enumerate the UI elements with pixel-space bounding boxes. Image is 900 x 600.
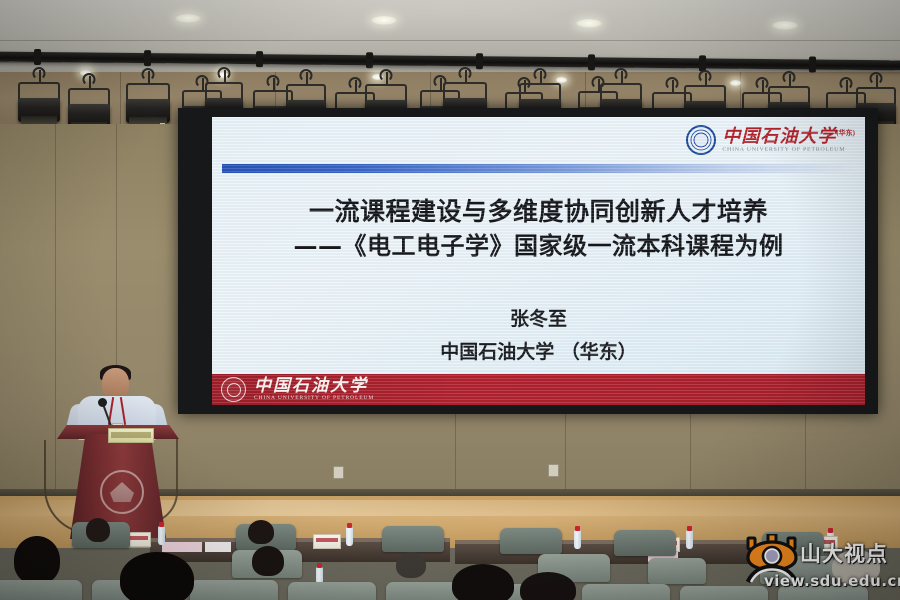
- presenter-affiliation: 中国石油大学 （华东）: [212, 336, 865, 369]
- slide-accent-bar: [222, 164, 854, 173]
- truss-lamp: [730, 80, 741, 86]
- microphone-icon: [98, 398, 107, 407]
- audience-placard: [313, 534, 341, 549]
- audience-head: [120, 552, 194, 600]
- water-bottle: [346, 527, 353, 546]
- slide-header-logo: 中国石油大学(华东) CHINA UNIVERSITY OF PETROLEUM: [686, 125, 855, 155]
- audience-chair: [614, 530, 676, 556]
- lecture-hall-photo: 中国石油大学(华东) CHINA UNIVERSITY OF PETROLEUM…: [0, 0, 900, 600]
- presenter-head: [102, 368, 129, 399]
- slide-logo-name-cn: 中国石油大学(华东): [722, 127, 855, 145]
- audience-head: [248, 520, 274, 544]
- audience-chair: [288, 582, 376, 600]
- watermark: 山大视点 view.sdu.edu.cn: [742, 532, 894, 594]
- footer-logo-name-cn: 中国石油大学: [254, 377, 374, 394]
- footer-logo-name-en: CHINA UNIVERSITY OF PETROLEUM: [254, 396, 374, 402]
- audience-head: [86, 518, 110, 542]
- audience-chair: [582, 584, 670, 600]
- audience-chair: [0, 580, 82, 600]
- ceiling-downlight: [576, 19, 602, 28]
- ceiling-downlight: [175, 14, 201, 23]
- audience-head: [252, 546, 284, 576]
- cup-seal-icon: [686, 125, 716, 155]
- audience-paper: [205, 542, 231, 552]
- audience-chair: [500, 528, 562, 554]
- podium-name-card: [108, 428, 154, 443]
- ceiling-downlight: [371, 16, 397, 25]
- watermark-brand: 山大视点: [800, 538, 888, 568]
- audience-chair: [382, 526, 444, 552]
- wall-outlet: [333, 466, 344, 479]
- slide-title-main: 一流课程建设与多维度协同创新人才培养: [309, 197, 768, 226]
- audience-head: [14, 536, 60, 584]
- slide-logo-name-en: CHINA UNIVERSITY OF PETROLEUM: [722, 147, 855, 153]
- audience-head: [520, 572, 576, 600]
- presentation-slide: 中国石油大学(华东) CHINA UNIVERSITY OF PETROLEUM…: [212, 117, 865, 405]
- water-bottle: [686, 530, 693, 549]
- water-bottle: [158, 526, 165, 545]
- presenter-name: 张冬至: [212, 303, 865, 336]
- watermark-url: view.sdu.edu.cn: [764, 572, 900, 590]
- audience-head: [396, 552, 426, 578]
- wall-outlet: [548, 464, 559, 477]
- slide-title-sub: ——《电工电子学》国家级一流本科课程为例: [212, 230, 865, 263]
- slide-presenter-block: 张冬至 中国石油大学 （华东）: [212, 303, 865, 370]
- audience-chair: [648, 558, 706, 584]
- university-crest-icon: [100, 470, 144, 514]
- cup-seal-icon: [221, 377, 246, 402]
- slide-footer-band: 中国石油大学 CHINA UNIVERSITY OF PETROLEUM: [212, 374, 865, 405]
- water-bottle: [574, 530, 581, 549]
- slide-title: 一流课程建设与多维度协同创新人才培养 ——《电工电子学》国家级一流本科课程为例: [212, 195, 865, 263]
- audience-paper: [162, 542, 202, 552]
- audience-chair: [190, 580, 278, 600]
- ceiling-downlight: [772, 21, 798, 30]
- audience-head: [452, 564, 514, 600]
